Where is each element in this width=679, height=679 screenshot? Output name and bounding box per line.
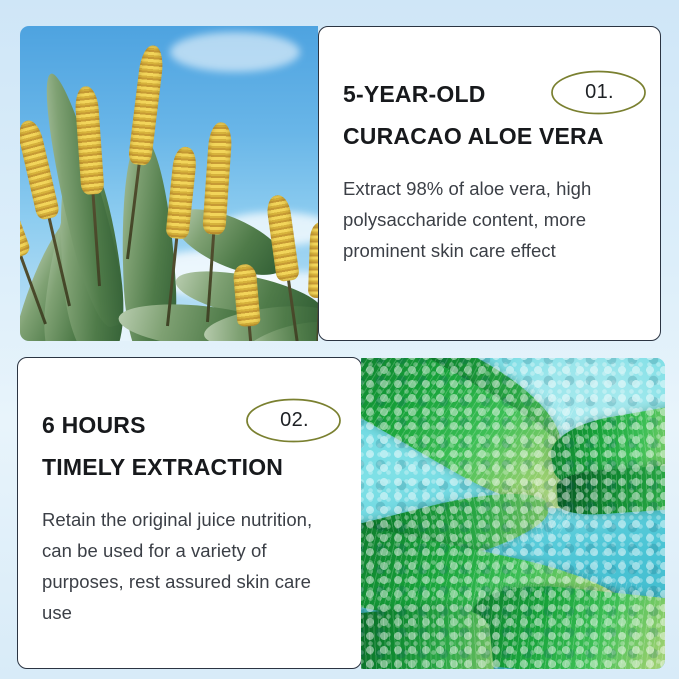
feature-heading-line-2: TIMELY EXTRACTION bbox=[42, 456, 343, 479]
feature-text-block-2: 6 HOURS TIMELY EXTRACTION Retain the ori… bbox=[42, 414, 343, 628]
cloud-shape bbox=[170, 32, 300, 72]
aloe-vera-feature-infographic: 01. 5-YEAR-OLD CURACAO ALOE VERA Extract… bbox=[0, 0, 679, 679]
aloe-leaves-photo bbox=[361, 358, 665, 669]
feature-section-1: 01. 5-YEAR-OLD CURACAO ALOE VERA Extract… bbox=[0, 0, 679, 348]
feature-card-1: 01. 5-YEAR-OLD CURACAO ALOE VERA Extract… bbox=[318, 26, 661, 341]
feature-description-1: Extract 98% of aloe vera, high polysacch… bbox=[343, 173, 642, 266]
feature-card-2: 02. 6 HOURS TIMELY EXTRACTION Retain the… bbox=[17, 357, 362, 669]
feature-section-2: 02. 6 HOURS TIMELY EXTRACTION Retain the… bbox=[0, 348, 679, 679]
feature-text-block-1: 5-YEAR-OLD CURACAO ALOE VERA Extract 98%… bbox=[343, 83, 642, 266]
feature-description-2: Retain the original juice nutrition, can… bbox=[42, 504, 343, 628]
feature-heading-line-1: 5-YEAR-OLD bbox=[343, 83, 642, 106]
water-droplets bbox=[361, 358, 665, 669]
aloe-flowers-photo bbox=[20, 26, 318, 341]
feature-heading-line-1: 6 HOURS bbox=[42, 414, 343, 437]
feature-heading-line-2: CURACAO ALOE VERA bbox=[343, 125, 642, 148]
